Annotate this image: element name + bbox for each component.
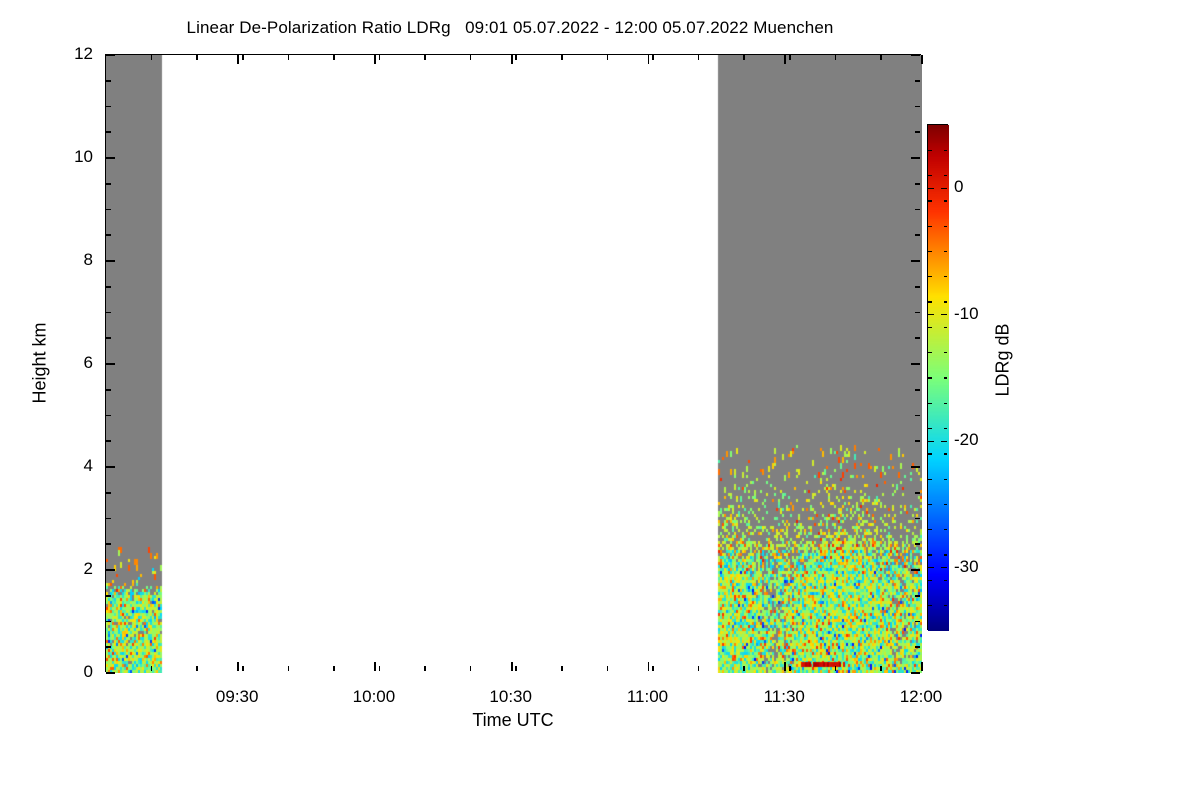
colorbar-tick-minor-left	[928, 226, 932, 227]
colorbar-tick-right	[941, 567, 947, 568]
x-tick-minor-top	[379, 55, 381, 60]
y-tick-label: 8	[13, 251, 93, 268]
colorbar-tick-label: 0	[954, 178, 963, 195]
x-tick-major-top	[237, 55, 239, 64]
x-tick-minor-bottom	[379, 666, 381, 671]
y-tick-minor-right	[915, 415, 920, 417]
y-tick-minor-left	[106, 131, 111, 133]
colorbar-tick-right	[941, 314, 947, 315]
y-tick-minor-right	[915, 312, 920, 314]
x-tick-major-top	[511, 55, 513, 64]
y-tick-minor-right	[915, 543, 920, 545]
colorbar-tick-left	[928, 188, 934, 189]
x-tick-major-top	[784, 55, 786, 64]
x-tick-major-bottom	[921, 662, 923, 671]
x-tick-minor-top	[288, 55, 290, 60]
x-tick-minor-top	[333, 55, 335, 60]
x-tick-minor-top	[196, 55, 198, 60]
colorbar-tick-minor-left	[928, 453, 932, 454]
x-tick-minor-top	[652, 55, 654, 60]
x-tick-minor-top	[743, 55, 745, 60]
colorbar-tick-minor-right	[944, 504, 948, 505]
y-tick-label: 12	[13, 45, 93, 62]
colorbar-tick-minor-right	[944, 301, 948, 302]
y-tick-major-left	[106, 260, 115, 262]
x-tick-major-bottom	[784, 662, 786, 671]
colorbar-tick-minor-right	[944, 377, 948, 378]
colorbar-tick-minor-right	[944, 605, 948, 606]
y-tick-minor-left	[106, 518, 111, 520]
y-tick-minor-right	[915, 131, 920, 133]
colorbar-tick-minor-right	[944, 150, 948, 151]
colorbar-tick-minor-left	[928, 605, 932, 606]
x-tick-minor-bottom	[333, 666, 335, 671]
colorbar-tick-minor-left	[928, 580, 932, 581]
colorbar-tick-minor-right	[944, 327, 948, 328]
x-tick-label: 10:00	[314, 688, 434, 705]
colorbar-tick-minor-right	[944, 428, 948, 429]
y-tick-major-left	[106, 466, 115, 468]
x-tick-major-top	[648, 55, 650, 64]
x-tick-minor-bottom	[789, 666, 791, 671]
heatmap-canvas	[106, 55, 922, 673]
x-tick-minor-bottom	[424, 666, 426, 671]
colorbar-tick-right	[941, 188, 947, 189]
x-tick-minor-bottom	[151, 666, 153, 671]
x-tick-minor-bottom	[652, 666, 654, 671]
x-tick-minor-bottom	[242, 666, 244, 671]
colorbar-tick-right	[941, 441, 947, 442]
y-tick-minor-right	[915, 183, 920, 185]
x-tick-minor-bottom	[835, 666, 837, 671]
y-tick-minor-left	[106, 80, 111, 82]
colorbar-tick-minor-left	[928, 554, 932, 555]
figure-root: Linear De-Polarization Ratio LDRg 09:01 …	[0, 0, 1200, 800]
colorbar-tick-minor-left	[928, 352, 932, 353]
x-tick-minor-top	[880, 55, 882, 60]
colorbar-tick-minor-left	[928, 276, 932, 277]
x-tick-major-top	[374, 55, 376, 64]
y-tick-major-right	[911, 157, 920, 159]
colorbar	[927, 124, 948, 630]
y-tick-major-left	[106, 157, 115, 159]
y-tick-minor-left	[106, 106, 111, 108]
y-tick-minor-left	[106, 646, 111, 648]
y-tick-minor-left	[106, 389, 111, 391]
x-tick-label: 10:30	[451, 688, 571, 705]
y-tick-minor-left	[106, 621, 111, 623]
x-tick-minor-bottom	[743, 666, 745, 671]
y-tick-minor-left	[106, 286, 111, 288]
colorbar-tick-minor-right	[944, 200, 948, 201]
y-tick-label: 0	[13, 663, 93, 680]
y-tick-minor-right	[915, 286, 920, 288]
y-tick-major-right	[911, 466, 920, 468]
y-tick-label: 10	[13, 148, 93, 165]
x-tick-major-bottom	[511, 662, 513, 671]
colorbar-tick-label: -30	[954, 558, 979, 575]
x-tick-minor-bottom	[470, 666, 472, 671]
colorbar-tick-minor-right	[944, 352, 948, 353]
y-tick-minor-left	[106, 337, 111, 339]
page-title: Linear De-Polarization Ratio LDRg 09:01 …	[0, 18, 1020, 38]
y-tick-major-left	[106, 672, 115, 674]
x-tick-label: 11:00	[587, 688, 707, 705]
y-tick-minor-left	[106, 415, 111, 417]
y-tick-major-right	[911, 363, 920, 365]
x-tick-label: 12:00	[861, 688, 981, 705]
colorbar-tick-minor-right	[944, 529, 948, 530]
y-tick-minor-right	[915, 492, 920, 494]
y-tick-minor-left	[106, 492, 111, 494]
colorbar-tick-minor-left	[928, 327, 932, 328]
x-tick-minor-bottom	[698, 666, 700, 671]
colorbar-tick-minor-right	[944, 175, 948, 176]
colorbar-tick-minor-left	[928, 479, 932, 480]
y-tick-minor-left	[106, 595, 111, 597]
y-tick-major-left	[106, 569, 115, 571]
y-tick-minor-left	[106, 234, 111, 236]
x-tick-minor-top	[789, 55, 791, 60]
x-axis-title: Time UTC	[105, 710, 921, 731]
x-tick-major-bottom	[374, 662, 376, 671]
y-tick-minor-right	[915, 337, 920, 339]
y-tick-minor-left	[106, 312, 111, 314]
x-tick-minor-top	[470, 55, 472, 60]
colorbar-tick-minor-right	[944, 479, 948, 480]
x-tick-minor-top	[835, 55, 837, 60]
colorbar-tick-minor-left	[928, 200, 932, 201]
x-tick-minor-bottom	[515, 666, 517, 671]
x-tick-minor-bottom	[607, 666, 609, 671]
x-tick-minor-top	[424, 55, 426, 60]
y-tick-minor-left	[106, 209, 111, 211]
colorbar-tick-minor-right	[944, 580, 948, 581]
y-tick-minor-left	[106, 543, 111, 545]
colorbar-tick-minor-right	[944, 554, 948, 555]
y-tick-minor-right	[915, 440, 920, 442]
x-tick-major-bottom	[237, 662, 239, 671]
x-tick-minor-top	[242, 55, 244, 60]
x-tick-major-bottom	[648, 662, 650, 671]
colorbar-tick-minor-left	[928, 150, 932, 151]
colorbar-tick-label: -10	[954, 305, 979, 322]
colorbar-tick-minor-left	[928, 301, 932, 302]
x-tick-minor-bottom	[561, 666, 563, 671]
y-tick-minor-right	[915, 646, 920, 648]
x-tick-minor-bottom	[880, 666, 882, 671]
y-tick-label: 4	[13, 457, 93, 474]
x-tick-minor-bottom	[288, 666, 290, 671]
colorbar-tick-left	[928, 441, 934, 442]
colorbar-title: LDRg dB	[993, 323, 1014, 396]
colorbar-tick-minor-left	[928, 504, 932, 505]
x-tick-label: 11:30	[724, 688, 844, 705]
colorbar-tick-minor-right	[944, 403, 948, 404]
colorbar-tick-minor-left	[928, 175, 932, 176]
colorbar-tick-left	[928, 314, 934, 315]
y-tick-minor-left	[106, 440, 111, 442]
y-tick-major-right	[911, 54, 920, 56]
colorbar-tick-label: -20	[954, 431, 979, 448]
y-tick-minor-right	[915, 106, 920, 108]
x-tick-minor-top	[515, 55, 517, 60]
y-tick-label: 6	[13, 354, 93, 371]
colorbar-tick-minor-left	[928, 529, 932, 530]
colorbar-tick-minor-left	[928, 428, 932, 429]
y-tick-minor-right	[915, 518, 920, 520]
colorbar-tick-minor-right	[944, 226, 948, 227]
colorbar-tick-minor-right	[944, 251, 948, 252]
colorbar-tick-minor-left	[928, 377, 932, 378]
colorbar-tick-left	[928, 567, 934, 568]
y-tick-minor-right	[915, 209, 920, 211]
y-tick-label: 2	[13, 560, 93, 577]
x-tick-minor-bottom	[196, 666, 198, 671]
x-tick-minor-top	[698, 55, 700, 60]
plot-axes	[105, 54, 921, 672]
y-tick-minor-right	[915, 80, 920, 82]
y-tick-minor-right	[915, 595, 920, 597]
y-tick-major-left	[106, 363, 115, 365]
y-tick-minor-right	[915, 234, 920, 236]
x-tick-major-top	[921, 55, 923, 64]
y-tick-minor-right	[915, 389, 920, 391]
y-tick-major-left	[106, 54, 115, 56]
x-tick-minor-top	[607, 55, 609, 60]
x-tick-minor-top	[561, 55, 563, 60]
x-tick-minor-top	[151, 55, 153, 60]
colorbar-tick-minor-right	[944, 276, 948, 277]
x-tick-label: 09:30	[177, 688, 297, 705]
y-tick-major-right	[911, 260, 920, 262]
colorbar-tick-minor-left	[928, 251, 932, 252]
y-tick-minor-right	[915, 621, 920, 623]
colorbar-tick-minor-left	[928, 403, 932, 404]
y-tick-minor-left	[106, 183, 111, 185]
y-tick-major-right	[911, 672, 920, 674]
y-axis-title: Height km	[30, 322, 51, 403]
colorbar-tick-minor-right	[944, 453, 948, 454]
y-tick-major-right	[911, 569, 920, 571]
